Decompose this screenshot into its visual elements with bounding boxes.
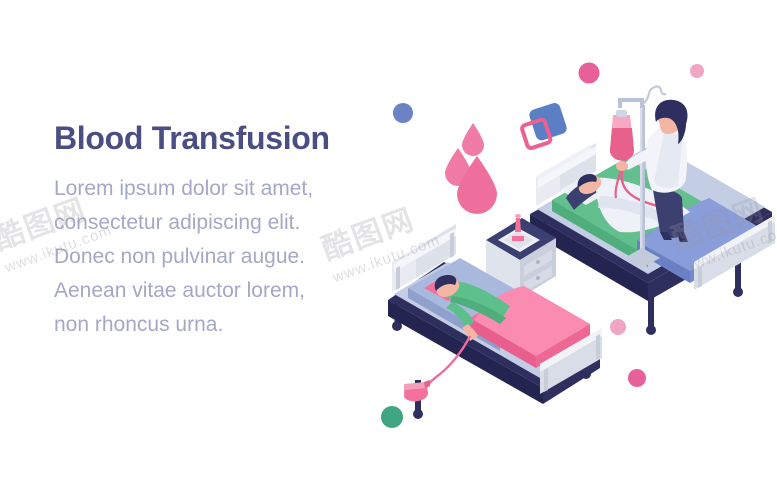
decorative-dot-pink-light-icon [690, 64, 704, 78]
blood-drop-group [445, 123, 497, 214]
decorative-dot-blue-icon [393, 103, 413, 123]
body-line-3: Donec non pulvinar augue. [54, 240, 374, 274]
body-line-2: consectetur adipiscing elit. [54, 206, 374, 240]
decorative-dot-pink-icon [579, 63, 600, 84]
decorative-dot-pink-light-2-icon [610, 319, 626, 335]
body-line-5: non rhoncus urna. [54, 308, 374, 342]
slide-canvas: Blood Transfusion Lorem ipsum dolor sit … [0, 0, 777, 486]
body-line-4: Aenean vitae auctor lorem, [54, 274, 374, 308]
body-line-1: Lorem ipsum dolor sit amet, [54, 172, 374, 206]
decorative-dot-pink-2-icon [628, 369, 646, 387]
text-block: Blood Transfusion Lorem ipsum dolor sit … [54, 118, 374, 342]
first-aid-squares-icon [517, 102, 569, 150]
page-title: Blood Transfusion [54, 118, 374, 158]
blood-collection-bag-icon [404, 380, 430, 401]
body-copy: Lorem ipsum dolor sit amet, consectetur … [54, 172, 374, 342]
blood-drop-small-icon [462, 123, 484, 156]
decorative-dot-green-left-icon [381, 406, 403, 428]
